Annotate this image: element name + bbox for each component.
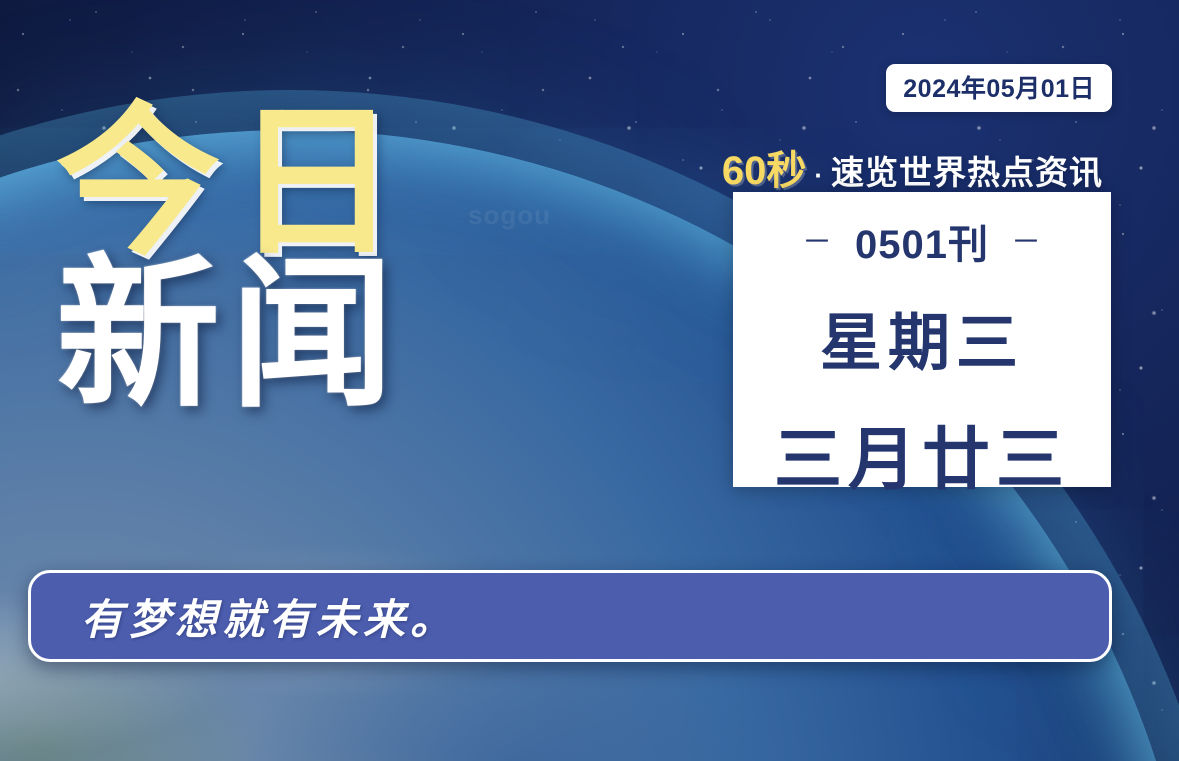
- tagline-separator: ·: [812, 160, 825, 191]
- tagline: 60秒 · 速览世界热点资讯: [722, 138, 1103, 196]
- date-badge: 2024年05月01日: [886, 64, 1112, 112]
- issue-dash-left: －: [802, 217, 833, 261]
- tagline-text: 速览世界热点资讯: [831, 146, 1103, 194]
- title-line-today: 今日: [56, 104, 412, 261]
- lunar-date-label: 三月廿三: [774, 404, 1070, 503]
- info-card: － 0501刊 － 星期三 三月廿三: [733, 192, 1111, 487]
- issue-row: － 0501刊 －: [802, 212, 1042, 270]
- issue-dash-right: －: [1011, 217, 1042, 261]
- quote-bar: 有梦想就有未来。: [28, 570, 1112, 662]
- title-line-news: 新闻: [56, 253, 412, 417]
- watermark-text: sogou: [468, 200, 551, 231]
- poster-title: 今日 新闻: [56, 104, 412, 417]
- news-poster: sogou 今日 新闻 2024年05月01日 60秒 · 速览世界热点资讯 －…: [0, 0, 1179, 761]
- tagline-seconds: 60秒: [722, 138, 807, 196]
- issue-number: 0501刊: [855, 212, 989, 270]
- quote-text: 有梦想就有未来。: [81, 586, 457, 647]
- weekday-label: 星期三: [820, 292, 1024, 382]
